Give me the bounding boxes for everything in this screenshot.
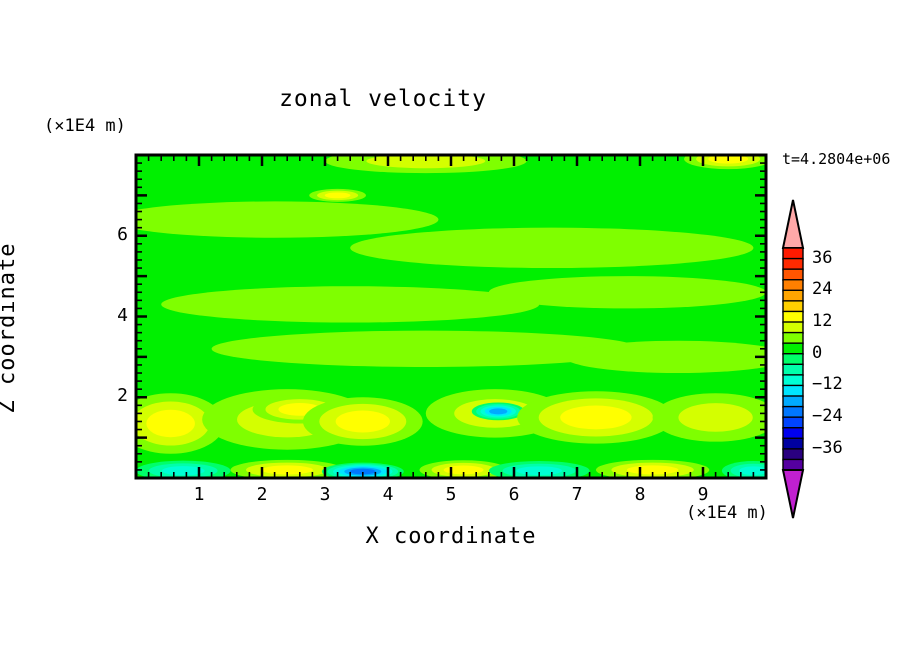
colorbar-band [783,449,803,460]
colorbar-over-cap [783,200,803,248]
colorbar-band [783,333,803,344]
colorbar-tick-label: −12 [812,374,843,394]
x-tick-label: 6 [494,484,534,505]
contour-feature [325,149,527,173]
colorbar-band [783,301,803,312]
colorbar-under-cap [783,470,803,518]
contour-feature [303,397,423,445]
contour-feature [472,402,525,420]
colorbar-tick-label: 36 [812,248,832,268]
x-tick-label: 4 [368,484,408,505]
colorbar-band [783,248,803,259]
y-tick-label: 2 [88,385,128,406]
contour-field [111,149,791,481]
contour-plot [0,0,904,654]
colorbar-band [783,259,803,270]
x-tick-label: 8 [620,484,660,505]
x-tick-label: 2 [242,484,282,505]
y-tick-label: 4 [88,305,128,326]
contour-feature [161,286,539,322]
colorbar-band [783,396,803,407]
x-tick-label: 9 [683,484,723,505]
contour-feature [517,391,675,443]
colorbar-tick-label: −24 [812,406,843,426]
colorbar-tick-label: −36 [812,438,843,458]
colorbar-band [783,417,803,428]
colorbar-band [783,269,803,280]
colorbar [783,200,803,518]
colorbar-band [783,311,803,322]
contour-feature [111,201,439,237]
colorbar-band [783,459,803,470]
colorbar-band [783,280,803,291]
x-tick-label: 1 [179,484,219,505]
colorbar-band [783,375,803,386]
y-tick-label: 6 [88,224,128,245]
colorbar-band [783,364,803,375]
contour-feature [350,228,753,268]
colorbar-band [783,428,803,439]
colorbar-band [783,290,803,301]
colorbar-band [783,322,803,333]
colorbar-band [783,438,803,449]
colorbar-band [783,407,803,418]
x-tick-label: 7 [557,484,597,505]
contour-feature [653,393,779,441]
colorbar-tick-label: 0 [812,343,822,363]
colorbar-band [783,354,803,365]
contour-feature [309,189,366,202]
colorbar-band [783,385,803,396]
colorbar-tick-label: 12 [812,311,832,331]
contour-feature [489,276,766,308]
x-tick-label: 3 [305,484,345,505]
figure-canvas: zonal velocity (×1E4 m) (×1E4 m) t=4.280… [0,0,904,654]
x-tick-label: 5 [431,484,471,505]
colorbar-tick-label: 24 [812,279,832,299]
colorbar-band [783,343,803,354]
